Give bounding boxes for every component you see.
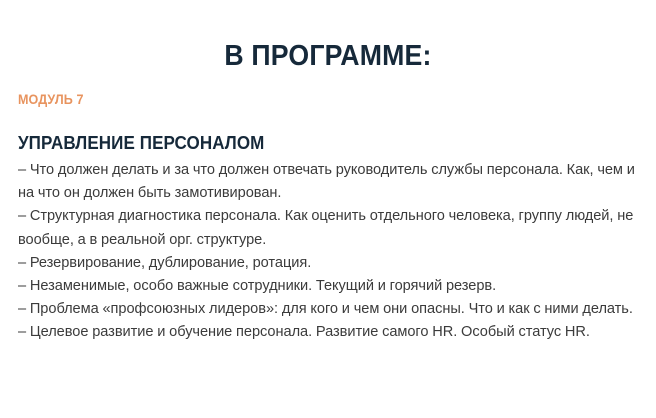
- program-content-list: – Что должен делать и за что должен отве…: [18, 159, 640, 345]
- program-page: В ПРОГРАММЕ: МОДУЛЬ 7 УПРАВЛЕНИЕ ПЕРСОНА…: [0, 0, 656, 418]
- list-item: – Целевое развитие и обучение персонала.…: [18, 321, 640, 344]
- page-title: В ПРОГРАММЕ:: [26, 40, 630, 72]
- list-item: – Структурная диагностика персонала. Как…: [18, 205, 640, 251]
- module-number-label: МОДУЛЬ 7: [18, 92, 84, 107]
- list-item: – Проблема «профсоюзных лидеров»: для ко…: [18, 298, 640, 321]
- list-item: – Что должен делать и за что должен отве…: [18, 159, 640, 205]
- list-item: – Резервирование, дублирование, ротация.: [18, 252, 640, 275]
- module-title: УПРАВЛЕНИЕ ПЕРСОНАЛОМ: [18, 132, 264, 153]
- list-item: – Незаменимые, особо важные сотрудники. …: [18, 275, 640, 298]
